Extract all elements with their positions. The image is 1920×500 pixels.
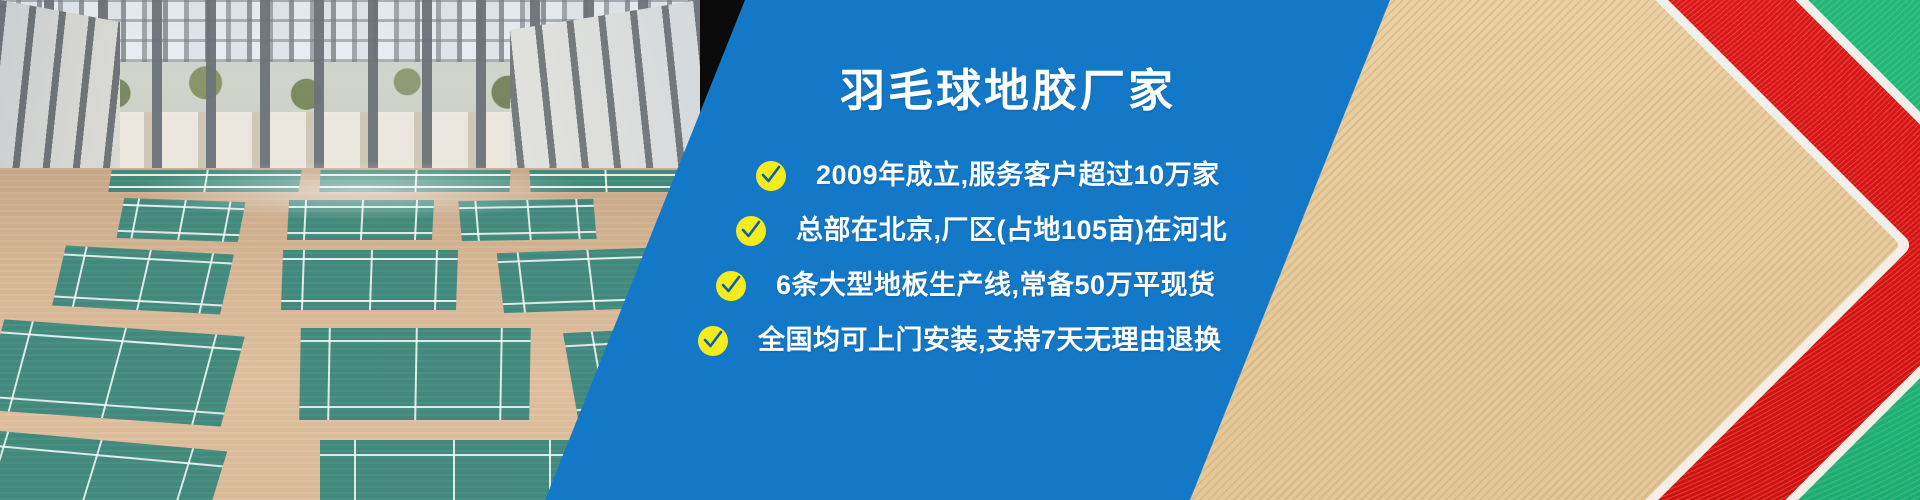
check-circle-icon	[716, 271, 746, 301]
list-item-label: 2009年成立,服务客户超过10万家	[816, 162, 1220, 189]
list-item-label: 6条大型地板生产线,常备50万平现货	[776, 272, 1216, 299]
list-item: 2009年成立,服务客户超过10万家	[756, 148, 1920, 203]
check-circle-icon	[698, 326, 728, 356]
list-item: 6条大型地板生产线,常备50万平现货	[716, 258, 1920, 313]
check-circle-icon	[756, 161, 786, 191]
blue-panel-content: 羽毛球地胶厂家 2009年成立,服务客户超过10万家 总部在北京,厂区(占地10…	[0, 0, 1920, 500]
page-title: 羽毛球地胶厂家	[840, 68, 1176, 113]
check-circle-icon	[736, 216, 766, 246]
list-item: 总部在北京,厂区(占地105亩)在河北	[736, 203, 1920, 258]
list-item-label: 总部在北京,厂区(占地105亩)在河北	[796, 217, 1227, 244]
list-item: 全国均可上门安装,支持7天无理由退换	[698, 313, 1920, 368]
promo-banner: 羽毛球地胶厂家 2009年成立,服务客户超过10万家 总部在北京,厂区(占地10…	[0, 0, 1920, 500]
list-item-label: 全国均可上门安装,支持7天无理由退换	[758, 327, 1222, 354]
feature-list: 2009年成立,服务客户超过10万家 总部在北京,厂区(占地105亩)在河北 6…	[0, 148, 1920, 368]
